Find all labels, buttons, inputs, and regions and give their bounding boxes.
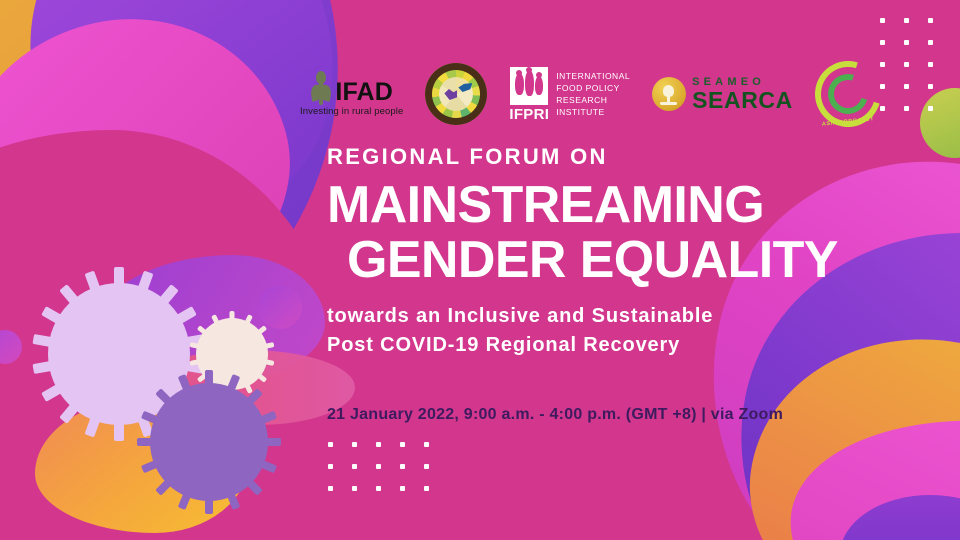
blob-right-top-green [920, 88, 960, 158]
c-arc-project-logo: ASIAN PROJECT [815, 61, 881, 127]
decorative-dot [904, 84, 909, 89]
blob-bottom-left-orange [35, 398, 250, 533]
decorative-dot [376, 486, 381, 491]
virus-spike [137, 438, 152, 446]
event-dateline: 21 January 2022, 9:00 a.m. - 4:00 p.m. (… [327, 406, 783, 424]
virus-spike [227, 374, 240, 391]
virus-spike [141, 460, 158, 473]
blob-mid-left-purple-small [258, 285, 302, 329]
circular-network-emblem-icon [425, 63, 487, 125]
blob-mid-left-pink-band [140, 350, 355, 425]
decorative-dot [880, 18, 885, 23]
seameo-wordmark: SEAMEO [692, 77, 793, 88]
decorative-dot [328, 442, 333, 447]
virus-spike [32, 361, 51, 374]
virus-spike [114, 423, 124, 441]
ifpri-full-name-line: INSTITUTE [556, 106, 630, 118]
decorative-dot [880, 40, 885, 45]
decorative-dot [376, 464, 381, 469]
decorative-dot [400, 442, 405, 447]
partner-logo-row: IFAD Investing in rural people IFPRI INT… [300, 52, 900, 136]
decorative-dot [904, 106, 909, 111]
virus-body [48, 283, 190, 425]
virus-spike [160, 404, 179, 424]
headline-line-1: MAINSTREAMING [327, 176, 764, 234]
virus-spike [138, 271, 154, 291]
virus-spike [85, 417, 101, 437]
ifpri-full-name: INTERNATIONAL FOOD POLICY RESEARCH INSTI… [556, 70, 630, 118]
decorative-dot [400, 486, 405, 491]
virus-spike [246, 479, 262, 495]
virus-spike [41, 306, 62, 324]
decorative-dot [424, 486, 429, 491]
subtitle-line-1: towards an Inclusive and Sustainable [327, 305, 713, 327]
virus-spike [265, 359, 275, 366]
decorative-dot [352, 442, 357, 447]
wave-top-left-gold-2 [0, 0, 294, 237]
virus-spike [186, 334, 205, 347]
virus-spike [178, 374, 191, 391]
virus-spike [230, 388, 235, 397]
decorative-dot [928, 18, 933, 23]
virus-spike [85, 271, 101, 291]
ifad-logo: IFAD Investing in rural people [300, 71, 403, 117]
decorative-dot [352, 464, 357, 469]
virus-spike [227, 493, 240, 510]
decorative-dot [904, 40, 909, 45]
virus-particle-medium [150, 383, 268, 501]
wave-right-bottom-purple [840, 495, 960, 540]
plant-sprout-icon [310, 71, 332, 105]
wave-top-left-base [0, 130, 340, 540]
virus-spike [211, 384, 219, 394]
event-banner: IFAD Investing in rural people IFPRI INT… [0, 0, 960, 540]
ifpri-full-name-line: FOOD POLICY [556, 82, 630, 94]
virus-spike [257, 373, 267, 383]
virus-spike [176, 306, 197, 324]
seameo-searca-logo: SEAMEO SEARCA [652, 77, 793, 112]
virus-spike [190, 342, 200, 349]
page-title: MAINSTREAMING GENDER EQUALITY [327, 178, 887, 288]
subtitle-line-2: Post COVID-19 Regional Recovery [327, 334, 680, 356]
virus-spike [197, 325, 207, 335]
virus-spike [260, 460, 277, 473]
people-plant-square-icon [510, 67, 548, 105]
virus-spike [160, 284, 179, 304]
decorative-dot [328, 464, 333, 469]
headline-line-2: GENDER EQUALITY [347, 233, 887, 288]
virus-spike [230, 311, 235, 320]
searca-wordmark: SEARCA [692, 89, 793, 112]
headline-block: REGIONAL FORUM ON MAINSTREAMING GENDER E… [327, 146, 887, 360]
decorative-dot [424, 464, 429, 469]
virus-spike [244, 384, 252, 394]
decorative-dot [928, 84, 933, 89]
blob-mid-left-purple [95, 255, 325, 385]
ifpri-full-name-line: INTERNATIONAL [556, 70, 630, 82]
virus-spike [244, 314, 252, 324]
ifpri-logo: IFPRI INTERNATIONAL FOOD POLICY RESEARCH… [509, 67, 630, 122]
virus-spike [138, 417, 154, 437]
tree-seal-icon [652, 77, 686, 111]
decorative-dot [904, 18, 909, 23]
eyebrow-text: REGIONAL FORUM ON [327, 146, 887, 168]
virus-particle-large [48, 283, 190, 425]
decorative-dot [400, 464, 405, 469]
subtitle-text: towards an Inclusive and Sustainable Pos… [327, 302, 887, 360]
virus-particle-small [196, 318, 268, 390]
virus-spike [190, 359, 200, 366]
virus-spike [176, 384, 197, 402]
virus-spike [141, 411, 158, 424]
virus-spike [59, 404, 78, 424]
decorative-dot [928, 62, 933, 67]
decorative-dot [928, 40, 933, 45]
virus-spike [205, 499, 213, 514]
decorative-dot [352, 486, 357, 491]
decorative-dot [928, 106, 933, 111]
ifad-tagline: Investing in rural people [300, 107, 403, 117]
virus-spike [32, 334, 51, 347]
virus-spike [246, 388, 262, 404]
virus-spike [260, 411, 277, 424]
blob-left-edge-circle [0, 330, 22, 364]
virus-spike [257, 325, 267, 335]
virus-spike [155, 479, 171, 495]
ifpri-wordmark: IFPRI [509, 107, 549, 122]
ifad-wordmark: IFAD [335, 80, 393, 105]
virus-spike [266, 438, 281, 446]
virus-spike [205, 370, 213, 385]
virus-spike [155, 388, 171, 404]
virus-spike [197, 373, 207, 383]
virus-spike [265, 342, 275, 349]
decorative-dot [904, 62, 909, 67]
virus-body [150, 383, 268, 501]
decorative-dot [328, 486, 333, 491]
ifad-logo-row: IFAD [310, 71, 393, 105]
virus-spike [41, 384, 62, 402]
virus-spike [59, 284, 78, 304]
ifpri-full-name-line: RESEARCH [556, 94, 630, 106]
virus-body [196, 318, 268, 390]
wave-top-left-magenta-2 [0, 0, 323, 358]
ifpri-mark-block: IFPRI [509, 67, 549, 122]
virus-spike [211, 314, 219, 324]
wave-right-magenta-2 [779, 401, 960, 540]
dot-grid-bottom-center [328, 442, 448, 508]
decorative-dot [376, 442, 381, 447]
searca-wordmark-block: SEAMEO SEARCA [692, 77, 793, 112]
virus-spike [186, 361, 205, 374]
virus-spike [114, 267, 124, 285]
virus-spike [178, 493, 191, 510]
decorative-dot [424, 442, 429, 447]
